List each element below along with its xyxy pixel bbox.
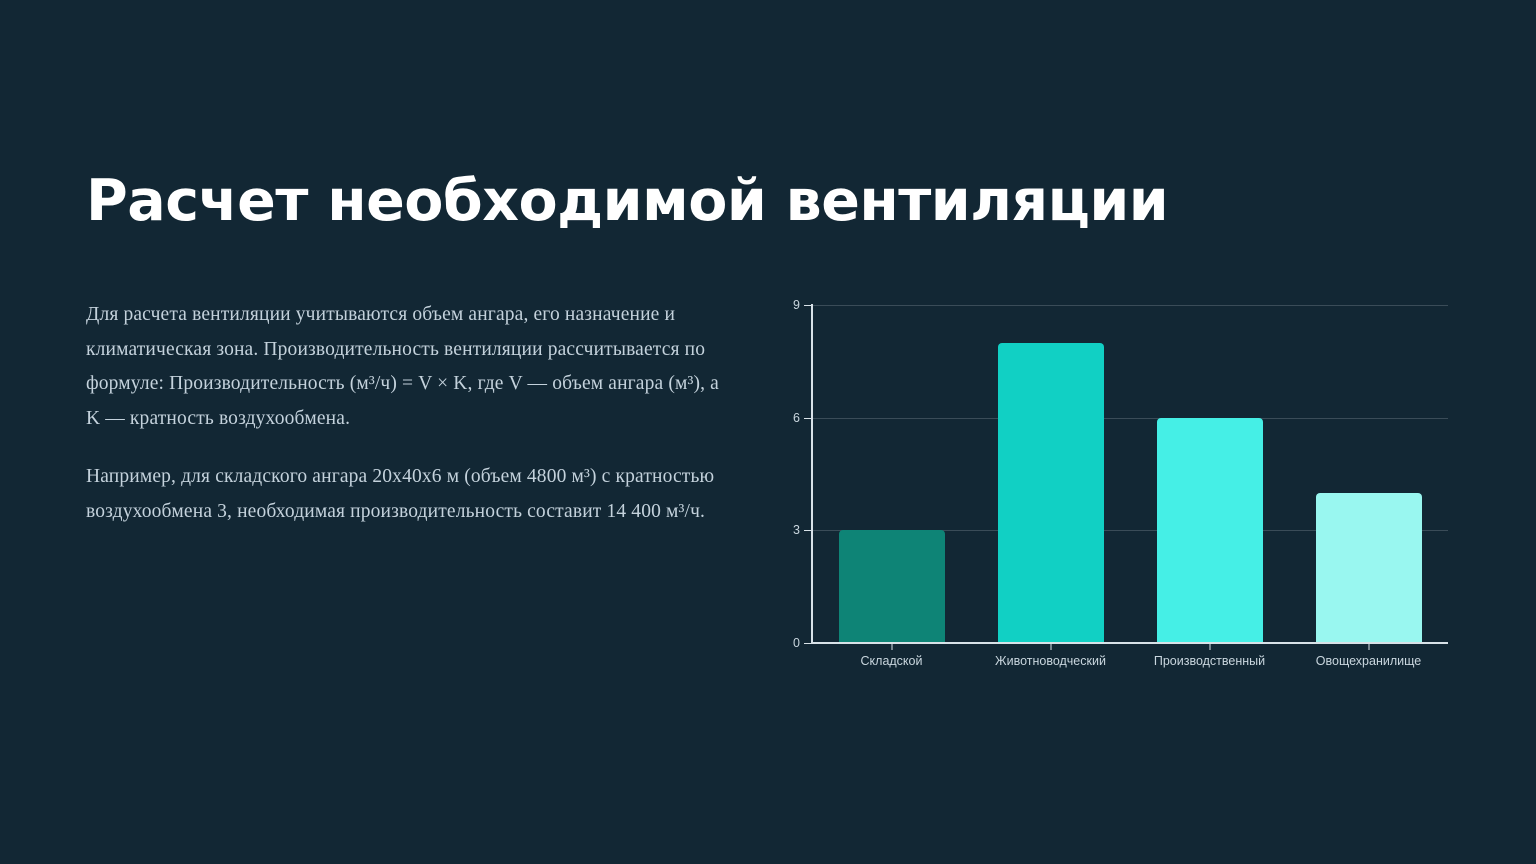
slide: Расчет необходимой вентиляции Для расчет… bbox=[0, 0, 1536, 864]
chart-x-tick-label: Производственный bbox=[1154, 654, 1265, 668]
body-paragraph-1: Для расчета вентиляции учитываются объем… bbox=[86, 298, 726, 436]
chart-bar bbox=[839, 530, 945, 643]
chart-plot-area bbox=[812, 305, 1448, 643]
chart-y-tick-label: 3 bbox=[793, 523, 800, 537]
chart-y-tick-mark bbox=[804, 305, 812, 306]
chart-x-tick-mark bbox=[891, 643, 892, 650]
chart-y-tick-label: 0 bbox=[793, 636, 800, 650]
chart-x-axis bbox=[811, 642, 1448, 644]
chart-x-tick-mark bbox=[1209, 643, 1210, 650]
chart-x-tick-mark bbox=[1368, 643, 1369, 650]
chart-x-tick-label: Овощехранилище bbox=[1316, 654, 1421, 668]
chart-bar bbox=[998, 343, 1104, 643]
chart-gridline bbox=[812, 418, 1448, 419]
page-title: Расчет необходимой вентиляции bbox=[86, 172, 1168, 232]
chart-y-tick-label: 6 bbox=[793, 411, 800, 425]
chart-y-tick-mark bbox=[804, 530, 812, 531]
chart-y-tick-mark bbox=[804, 643, 812, 644]
chart-bar bbox=[1157, 418, 1263, 643]
chart-y-axis bbox=[811, 304, 813, 644]
chart-y-tick-label: 9 bbox=[793, 298, 800, 312]
body-paragraph-2: Например, для складского ангара 20х40х6 … bbox=[86, 460, 726, 529]
chart-x-tick-label: Животноводческий bbox=[995, 654, 1106, 668]
chart-x-tick-label: Складской bbox=[861, 654, 923, 668]
body-copy: Для расчета вентиляции учитываются объем… bbox=[86, 298, 726, 530]
chart-gridline bbox=[812, 305, 1448, 306]
ventilation-bar-chart: 0369СкладскойЖивотноводческийПроизводств… bbox=[780, 290, 1470, 675]
chart-y-tick-mark bbox=[804, 418, 812, 419]
chart-x-tick-mark bbox=[1050, 643, 1051, 650]
chart-bar bbox=[1316, 493, 1422, 643]
